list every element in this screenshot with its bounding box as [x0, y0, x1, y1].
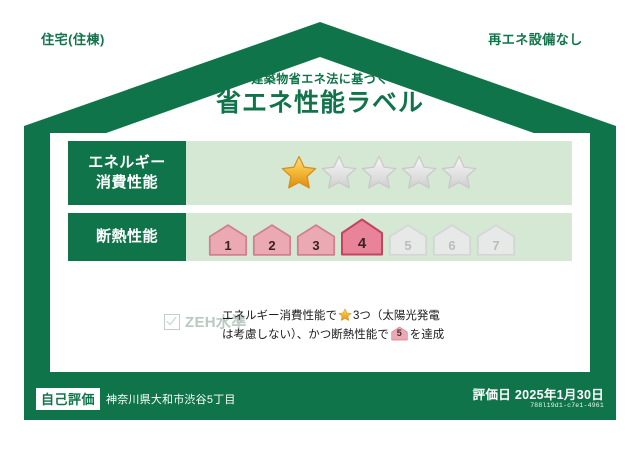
evaluation-date: 評価日 2025年1月30日 — [473, 388, 604, 402]
insulation-grade-badge: 3 — [296, 223, 336, 257]
inline-grade-badge: 5 — [391, 326, 408, 341]
tab-building-type-label: 住宅(住棟) — [41, 29, 105, 48]
insulation-grade-scale: 1234567 — [208, 217, 516, 257]
insulation-grade-badge: 2 — [252, 223, 292, 257]
star-empty-icon — [400, 154, 438, 192]
status-badge: 自己評価 — [36, 388, 100, 410]
tab-building-type: 住宅(住棟) — [24, 22, 122, 54]
zeh-desc-part3: を達成 — [410, 329, 445, 341]
zeh-desc-part1: エネルギー消費性能で — [222, 310, 337, 322]
insulation-grade-badge: 4 — [340, 217, 384, 257]
tab-renewable-energy-label: 再エネ設備なし — [488, 29, 583, 48]
star-empty-icon — [360, 154, 398, 192]
energy-performance-label: 住宅(住棟) 再エネ設備なし 建築物省エネ法に基づく 省エネ性能ラベル エネルギ… — [0, 0, 640, 452]
energy-label-line1: エネルギー — [88, 153, 166, 173]
star-rating — [280, 154, 478, 192]
star-empty-icon — [440, 154, 478, 192]
star-empty-icon — [320, 154, 358, 192]
checkbox-unchecked-icon — [164, 314, 180, 330]
energy-label-line2: 消費性能 — [96, 173, 158, 193]
evaluation-id: 788l19d1-c7e1-4961 — [473, 402, 604, 409]
inline-grade-number: 5 — [391, 326, 408, 341]
zeh-desc-part2: は考慮しない）、かつ断熱性能で — [222, 329, 389, 341]
energy-performance-row: エネルギー 消費性能 — [68, 141, 572, 205]
star-filled-icon — [338, 308, 352, 322]
insulation-grade-badge: 7 — [476, 223, 516, 257]
zeh-status: ZEH水準 — [68, 303, 208, 332]
zeh-standard-row: ZEH水準 エネルギー消費性能で 3つ（太陽光発電 — [68, 303, 572, 345]
zeh-description: エネルギー消費性能で 3つ（太陽光発電 は考慮しない）、かつ断熱性 — [208, 303, 444, 345]
label-footer: 自己評価 神奈川県大和市渋谷5丁目 評価日 2025年1月30日 788l19d… — [36, 386, 604, 412]
insulation-performance-label-cell: 断熱性能 — [68, 213, 186, 261]
star-filled-icon — [280, 154, 318, 192]
insulation-performance-value-cell: 1234567 — [186, 213, 572, 261]
zeh-desc-star-count: 3つ（太陽光発電 — [353, 310, 440, 322]
insulation-performance-row: 断熱性能 1234567 — [68, 213, 572, 261]
content-card: エネルギー 消費性能 断熱性能 1234567 — [50, 133, 590, 372]
insulation-grade-badge: 6 — [432, 223, 472, 257]
insulation-grade-badge: 5 — [388, 223, 428, 257]
address-text: 神奈川県大和市渋谷5丁目 — [106, 391, 236, 407]
tab-renewable-energy: 再エネ設備なし — [455, 22, 616, 54]
energy-performance-label-cell: エネルギー 消費性能 — [68, 141, 186, 205]
insulation-grade-badge: 1 — [208, 223, 248, 257]
insulation-label: 断熱性能 — [96, 227, 158, 247]
energy-performance-value-cell — [186, 141, 572, 205]
evaluation-meta: 評価日 2025年1月30日 788l19d1-c7e1-4961 — [473, 388, 604, 410]
